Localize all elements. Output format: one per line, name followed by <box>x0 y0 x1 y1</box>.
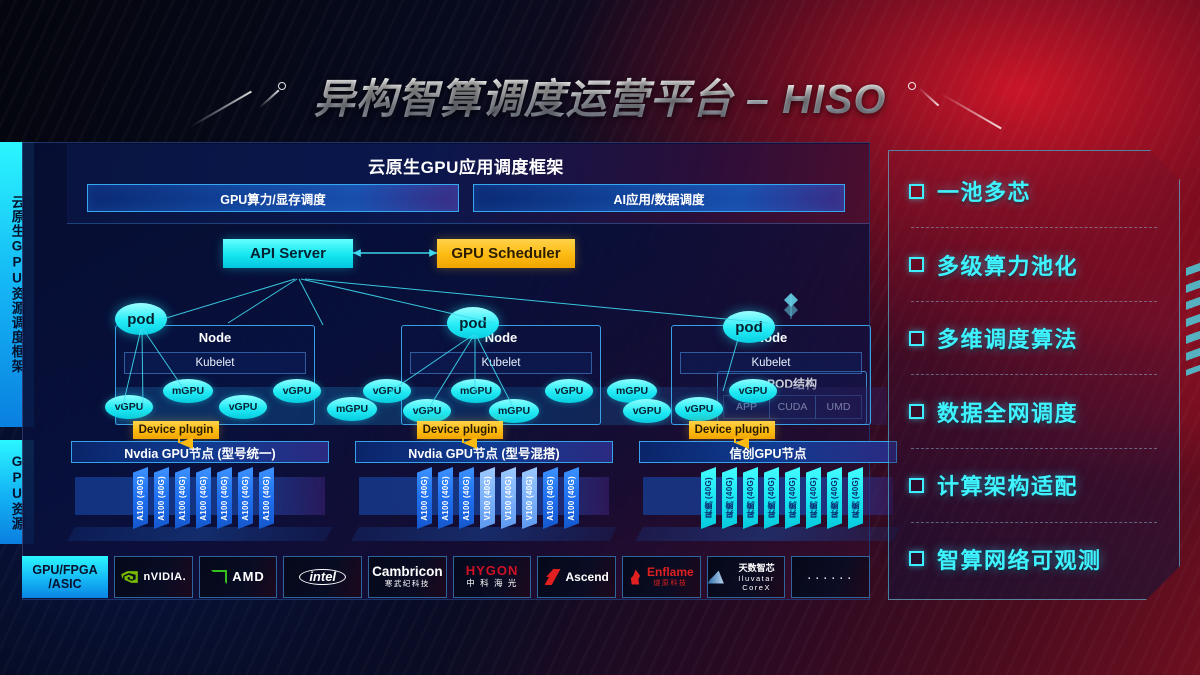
feature-item-1[interactable]: 一池多芯 <box>905 173 1163 209</box>
vendor-name: Cambricon <box>372 566 443 578</box>
vgpu-2-3[interactable]: vGPU <box>545 379 593 403</box>
feature-label-1: 一池多芯 <box>937 175 1031 207</box>
vendor-logo-enflame-logo[interactable]: Enflame燧原科技 <box>622 556 701 598</box>
gpu-card-label: V100 (40G) <box>483 476 492 520</box>
gpu-card[interactable]: A100 (40G) <box>175 467 190 529</box>
feature-label-4: 数据全网调度 <box>937 396 1078 428</box>
gpu-card-label: A100 (40G) <box>220 476 229 521</box>
nvidia-logo-mark <box>121 570 139 584</box>
api-server-box[interactable]: API Server <box>223 239 353 268</box>
gpu-card[interactable]: A100 (40G) <box>133 467 148 529</box>
vendor-subname: Iluvatar CoreX <box>729 574 785 592</box>
gpu-card-label: 昇腾 (40G) <box>745 477 756 518</box>
gpu-card-label: A100 (40G) <box>157 476 166 521</box>
feature-item-2[interactable]: 多级算力池化 <box>905 247 1163 283</box>
gpu-card[interactable]: 昇腾 (40G) <box>743 467 758 529</box>
gpu-scheduler-box[interactable]: GPU Scheduler <box>437 239 575 268</box>
node-title-2: Node <box>402 330 600 345</box>
mgpu-2-1[interactable]: mGPU <box>451 379 501 403</box>
gpu-group-2: Nvdia GPU节点 (型号混搭) A100 (40G)A100 (40G)A… <box>355 441 613 545</box>
architecture-panel: 云原生GPU应用调度框架 GPU算力/显存调度 AI应用/数据调度 <box>22 142 870 600</box>
vendor-logo-ellipsis-icon[interactable]: ······ <box>791 556 870 598</box>
square-bullet-icon <box>909 331 924 346</box>
features-panel: 一池多芯 多级算力池化 多维调度算法 数据全网调度 计算架构适配 智算网络可观测 <box>888 150 1180 600</box>
vendor-logo-intel-logo[interactable]: intel <box>283 556 362 598</box>
gpu-card[interactable]: 昇腾 (40G) <box>827 467 842 529</box>
gpu-card-label: A100 (40G) <box>420 476 429 521</box>
vendor-tag-line2: /ASIC <box>32 577 97 591</box>
square-bullet-icon <box>909 478 924 493</box>
gpu-group-2-header: Nvdia GPU节点 (型号混搭) <box>355 441 613 463</box>
gpu-card[interactable]: 昇腾 (40G) <box>785 467 800 529</box>
gpu-card[interactable]: A100 (40G) <box>238 467 253 529</box>
gpu-group-1: Nvdia GPU节点 (型号统一) A100 (40G)A100 (40G)A… <box>71 441 329 545</box>
feature-label-6: 智算网络可观测 <box>937 543 1102 575</box>
kubelet-3: Kubelet <box>680 352 862 374</box>
vendor-subname: 燧原科技 <box>647 578 694 588</box>
gpu-card-label: A100 (40G) <box>199 476 208 521</box>
feature-item-3[interactable]: 多维调度算法 <box>905 320 1163 356</box>
gpu-card[interactable]: A100 (40G) <box>259 467 274 529</box>
gpu-card-label: A100 (40G) <box>441 476 450 521</box>
vendor-logo-cambricon-logo[interactable]: Cambricon寒武纪科技 <box>368 556 447 598</box>
square-bullet-icon <box>909 184 924 199</box>
vendor-logo-nvidia-logo[interactable]: nVIDIA. <box>114 556 193 598</box>
gpu-card-label: A100 (40G) <box>462 476 471 521</box>
gpu-card-label: A100 (40G) <box>241 476 250 521</box>
title-bar: 异构智算调度运营平台 – HISO <box>0 62 1200 128</box>
vendor-tag-label: GPU/FPGA /ASIC <box>22 556 108 598</box>
device-plugin-3[interactable]: Device plugin <box>689 421 775 439</box>
vgpu-3-2[interactable]: vGPU <box>675 397 723 421</box>
gpu-card[interactable]: A100 (40G) <box>196 467 211 529</box>
feature-divider-1 <box>911 227 1157 228</box>
gpu-card-label: 昇腾 (40G) <box>787 477 798 518</box>
ellipsis-icon: ······ <box>807 569 855 586</box>
enflame-logo-mark <box>629 570 642 585</box>
gpu-card-label: A100 (40G) <box>546 476 555 521</box>
gpu-card[interactable]: 昇腾 (40G) <box>701 467 716 529</box>
gpu-card-label: A100 (40G) <box>262 476 271 521</box>
gpu-group-3: 信创GPU节点 昇腾 (40G)昇腾 (40G)昇腾 (40G)昇腾 (40G)… <box>639 441 897 545</box>
page-title: 异构智算调度运营平台 – HISO <box>314 65 887 125</box>
gpu-group-2-base <box>351 527 616 541</box>
gpu-card[interactable]: A100 (40G) <box>217 467 232 529</box>
kubelet-2: Kubelet <box>410 352 592 374</box>
gpu-card[interactable]: A100 (40G) <box>459 467 474 529</box>
mgpu-2-2[interactable]: mGPU <box>489 399 539 423</box>
gpu-card[interactable]: 昇腾 (40G) <box>848 467 863 529</box>
gpu-card[interactable]: 昇腾 (40G) <box>806 467 821 529</box>
feature-divider-3 <box>911 374 1157 375</box>
feature-item-5[interactable]: 计算架构适配 <box>905 467 1163 503</box>
vendor-logo-amd-logo[interactable]: AMD <box>199 556 278 598</box>
iluvatar-logo-mark <box>708 571 724 584</box>
device-plugin-2[interactable]: Device plugin <box>417 421 503 439</box>
vendor-name: 天数智芯 <box>729 562 785 574</box>
ascend-logo-mark <box>545 569 561 585</box>
feature-divider-5 <box>911 522 1157 523</box>
gpu-card[interactable]: A100 (40G) <box>154 467 169 529</box>
gpu-card-label: V100 (40G) <box>525 476 534 520</box>
feature-label-3: 多维调度算法 <box>937 322 1078 354</box>
vendor-logo-ascend-logo[interactable]: Ascend <box>537 556 616 598</box>
gpu-card[interactable]: A100 (40G) <box>543 467 558 529</box>
gpu-card[interactable]: A100 (40G) <box>417 467 432 529</box>
mgpu-1-1[interactable]: mGPU <box>163 379 213 403</box>
framework-title: 云原生GPU应用调度框架 <box>67 153 865 178</box>
vendor-name: nVIDIA. <box>144 571 187 583</box>
feature-item-6[interactable]: 智算网络可观测 <box>905 541 1163 577</box>
feature-divider-4 <box>911 448 1157 449</box>
vendor-name: AMD <box>232 571 265 583</box>
framework-header: 云原生GPU应用调度框架 GPU算力/显存调度 AI应用/数据调度 <box>67 144 869 224</box>
vendor-name: intel <box>299 569 346 585</box>
gpu-card-label: V100 (40G) <box>504 476 513 520</box>
vgpu-1-3[interactable]: vGPU <box>273 379 321 403</box>
title-decoration-left <box>226 70 300 120</box>
gpu-group-1-base <box>67 527 332 541</box>
feature-divider-2 <box>911 301 1157 302</box>
gpu-card[interactable]: V100 (40G) <box>522 467 537 529</box>
pod-ellipse-3[interactable]: pod <box>723 311 775 343</box>
device-plugin-1[interactable]: Device plugin <box>133 421 219 439</box>
vendor-strip: GPU/FPGA /ASIC nVIDIA.AMDintelCambricon寒… <box>22 556 870 598</box>
gpu-card-label: 昇腾 (40G) <box>766 477 777 518</box>
vendor-logo-iluvatar-logo[interactable]: 天数智芯Iluvatar CoreX <box>707 556 786 598</box>
gpu-group-3-base <box>635 527 900 541</box>
gpu-card[interactable]: 昇腾 (40G) <box>722 467 737 529</box>
gpu-group-3-header: 信创GPU节点 <box>639 441 897 463</box>
vgpu-3-1[interactable]: vGPU <box>623 399 671 423</box>
square-bullet-icon <box>909 404 924 419</box>
vgpu-2-1[interactable]: vGPU <box>363 379 411 403</box>
title-decoration-right <box>900 70 974 120</box>
pod-ellipse-2[interactable]: pod <box>447 307 499 339</box>
vgpu-1-1[interactable]: vGPU <box>105 395 153 419</box>
feature-item-4[interactable]: 数据全网调度 <box>905 394 1163 430</box>
gpu-card-label: A100 (40G) <box>136 476 145 521</box>
vendor-name: Enflame <box>647 566 694 578</box>
vgpu-3-3[interactable]: vGPU <box>729 379 777 403</box>
gpu-card[interactable]: A100 (40G) <box>564 467 579 529</box>
vgpu-1-2[interactable]: vGPU <box>219 395 267 419</box>
pill-ai-app[interactable]: AI应用/数据调度 <box>473 184 845 212</box>
vendor-logo-hygon-logo[interactable]: HYGON中 科 海 光 <box>453 556 532 598</box>
vendor-subname: 寒武纪科技 <box>372 578 443 589</box>
gpu-card-label: A100 (40G) <box>567 476 576 521</box>
pod-ellipse-1[interactable]: pod <box>115 303 167 335</box>
gpu-group-1-header: Nvdia GPU节点 (型号统一) <box>71 441 329 463</box>
slide-root: 异构智算调度运营平台 – HISO 云原生GPU资源调度框架 GPU资源 云原生… <box>0 0 1200 675</box>
gpu-card[interactable]: V100 (40G) <box>480 467 495 529</box>
panel-accent-stripes <box>1186 262 1200 376</box>
gpu-card[interactable]: V100 (40G) <box>501 467 516 529</box>
vendor-name: Ascend <box>566 571 609 583</box>
vendor-name: HYGON <box>466 565 519 577</box>
vendor-tag-line1: GPU/FPGA <box>32 563 97 577</box>
pill-gpu-compute[interactable]: GPU算力/显存调度 <box>87 184 459 212</box>
kubelet-1: Kubelet <box>124 352 306 374</box>
gpu-card-label: 昇腾 (40G) <box>850 477 861 518</box>
gpu-card-label: 昇腾 (40G) <box>808 477 819 518</box>
gpu-card-label: 昇腾 (40G) <box>829 477 840 518</box>
vendor-logo-list: nVIDIA.AMDintelCambricon寒武纪科技HYGON中 科 海 … <box>114 556 870 598</box>
gpu-card[interactable]: 昇腾 (40G) <box>764 467 779 529</box>
gpu-card[interactable]: A100 (40G) <box>438 467 453 529</box>
feature-label-2: 多级算力池化 <box>937 249 1078 281</box>
gpu-resources-section: Nvdia GPU节点 (型号统一) A100 (40G)A100 (40G)A… <box>67 441 869 545</box>
vendor-subname: 中 科 海 光 <box>466 577 519 589</box>
amd-logo-mark <box>211 570 227 584</box>
feature-label-5: 计算架构适配 <box>937 469 1078 501</box>
square-bullet-icon <box>909 551 924 566</box>
gpu-card-label: 昇腾 (40G) <box>703 477 714 518</box>
square-bullet-icon <box>909 257 924 272</box>
vgpu-2-2[interactable]: vGPU <box>403 399 451 423</box>
mgpu-1-2[interactable]: mGPU <box>327 397 377 421</box>
gpu-card-label: A100 (40G) <box>178 476 187 521</box>
gpu-card-label: 昇腾 (40G) <box>724 477 735 518</box>
